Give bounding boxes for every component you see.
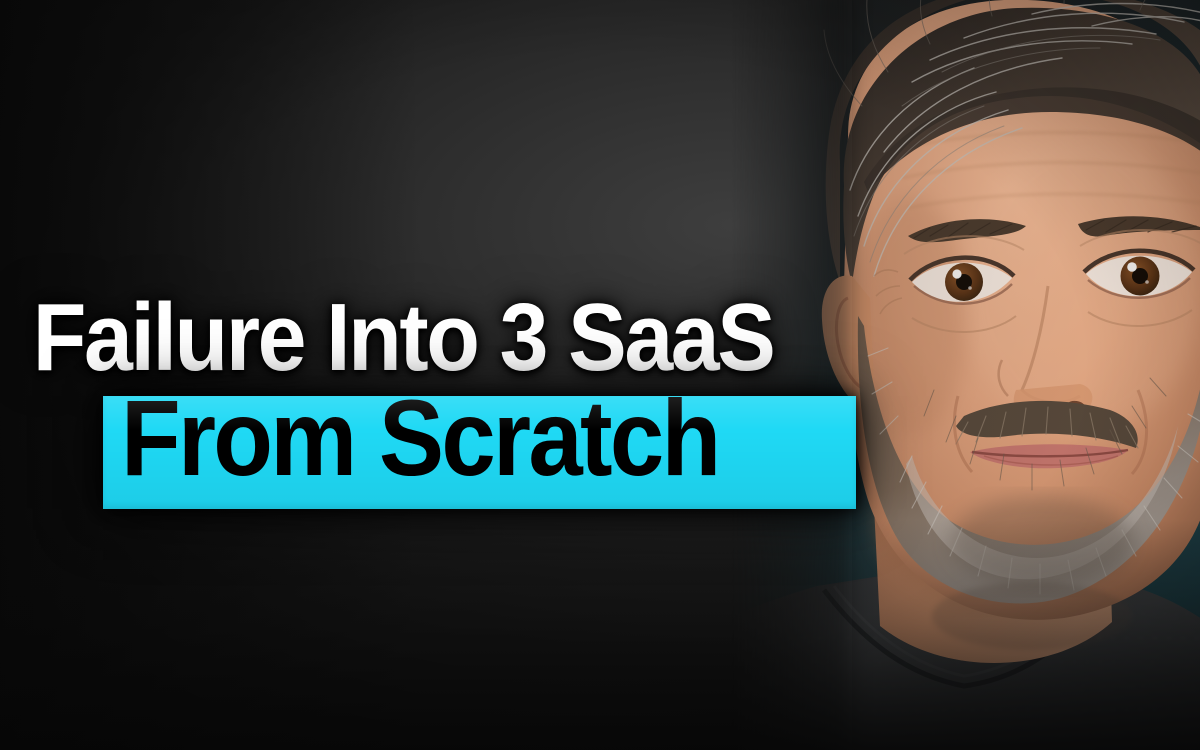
- headline-line-1: Failure Into 3 SaaS: [30, 292, 780, 384]
- headline-highlight-box: From Scratch: [103, 396, 856, 509]
- background-bottom-fade: [0, 520, 1200, 750]
- video-thumbnail: Failure Into 3 SaaS From Scratch Bearded…: [0, 0, 1200, 750]
- headline-block: Failure Into 3 SaaS From Scratch: [30, 292, 850, 384]
- headline-line-2: From Scratch: [121, 384, 718, 492]
